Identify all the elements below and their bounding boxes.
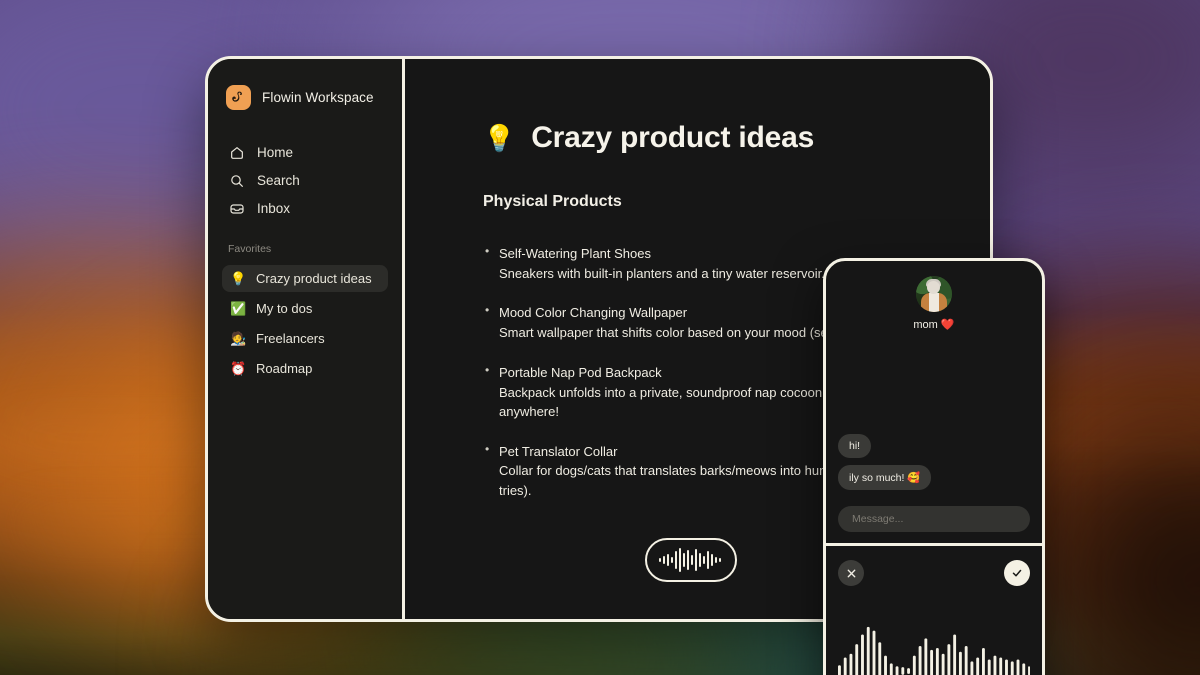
artist-icon: 🧑‍🎨 xyxy=(230,332,246,345)
message-input[interactable]: Message... xyxy=(838,506,1030,532)
audio-waveform xyxy=(838,619,1030,675)
message-input-placeholder: Message... xyxy=(852,513,903,525)
check-mark-icon: ✅ xyxy=(230,302,246,315)
sidebar-item-freelancers[interactable]: 🧑‍🎨 Freelancers xyxy=(222,325,388,352)
primary-nav: Home Search xyxy=(222,140,388,221)
section-heading: Physical Products xyxy=(483,193,990,211)
sidebar-item-search[interactable]: Search xyxy=(222,168,388,193)
voice-waveform-icon xyxy=(659,547,723,573)
lightbulb-icon: 💡 xyxy=(230,272,246,285)
close-icon xyxy=(846,568,857,579)
favorites-list: 💡 Crazy product ideas ✅ My to dos 🧑‍🎨 Fr… xyxy=(222,265,388,382)
sidebar-item-label: Home xyxy=(257,145,293,160)
lightbulb-icon: 💡 xyxy=(483,123,515,154)
message-list: hi! ily so much! 🥰 xyxy=(838,434,1030,506)
sidebar-item-label: Crazy product ideas xyxy=(256,271,372,286)
sidebar-item-label: Roadmap xyxy=(256,361,312,376)
favorites-section-label: Favorites xyxy=(222,243,388,255)
chat-header: mom ❤️ xyxy=(838,261,1030,331)
sidebar-item-crazy-product-ideas[interactable]: 💡 Crazy product ideas xyxy=(222,265,388,292)
sidebar-item-my-to-dos[interactable]: ✅ My to dos xyxy=(222,295,388,322)
cancel-recording-button[interactable] xyxy=(838,560,864,586)
page-title-text: Crazy product ideas xyxy=(531,121,814,155)
voice-recorder-panel xyxy=(826,546,1042,675)
page-title: 💡 Crazy product ideas xyxy=(483,121,990,155)
sidebar-item-home[interactable]: Home xyxy=(222,140,388,165)
workspace-name: Flowin Workspace xyxy=(262,90,374,105)
sidebar: Flowin Workspace Home xyxy=(208,59,405,619)
recording-waveform xyxy=(838,616,1030,675)
flowin-logo-icon xyxy=(226,85,251,110)
check-icon xyxy=(1011,567,1023,579)
home-icon xyxy=(228,144,245,161)
voice-record-button[interactable] xyxy=(645,538,737,582)
phone-overlay: mom ❤️ hi! ily so much! 🥰 Message... xyxy=(823,258,1045,675)
message-bubble: ily so much! 🥰 xyxy=(838,465,931,490)
sidebar-item-label: Search xyxy=(257,173,300,188)
recorder-controls xyxy=(838,560,1030,586)
workspace-brand[interactable]: Flowin Workspace xyxy=(222,85,388,110)
sidebar-item-label: Freelancers xyxy=(256,331,325,346)
contact-name: mom ❤️ xyxy=(838,318,1030,331)
sidebar-item-label: Inbox xyxy=(257,201,290,216)
inbox-icon xyxy=(228,200,245,217)
chat-panel: mom ❤️ hi! ily so much! 🥰 Message... xyxy=(826,261,1042,546)
alarm-clock-icon: ⏰ xyxy=(230,362,246,375)
sidebar-item-label: My to dos xyxy=(256,301,312,316)
avatar xyxy=(916,276,952,312)
search-icon xyxy=(228,172,245,189)
confirm-recording-button[interactable] xyxy=(1004,560,1030,586)
sidebar-item-inbox[interactable]: Inbox xyxy=(222,196,388,221)
message-bubble: hi! xyxy=(838,434,871,458)
screenshot-stage: Flowin Workspace Home xyxy=(0,0,1200,675)
sidebar-item-roadmap[interactable]: ⏰ Roadmap xyxy=(222,355,388,382)
